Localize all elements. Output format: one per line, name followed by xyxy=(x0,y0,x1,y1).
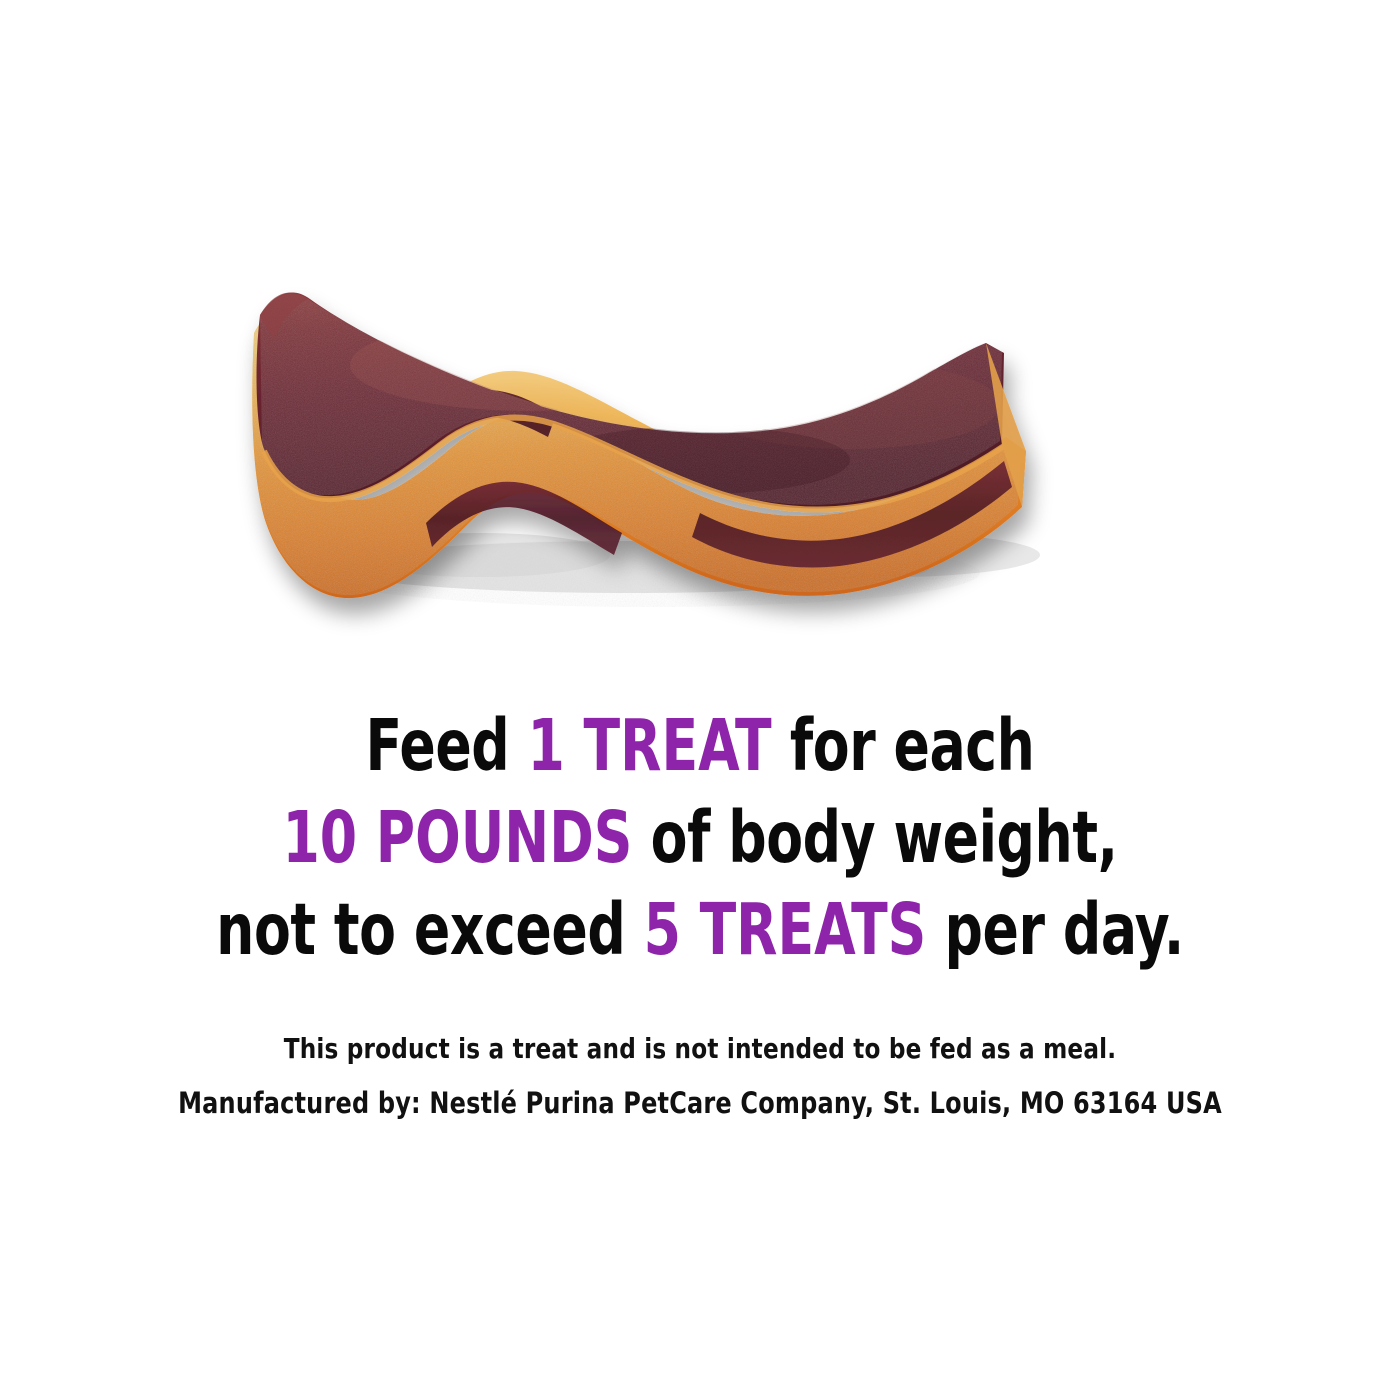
product-image-container xyxy=(0,255,1400,645)
headline-line-3: not to exceed 5 TREATS per day. xyxy=(112,884,1288,976)
headline-line-2-accent: 10 POUNDS xyxy=(282,796,632,879)
headline-line-3-accent: 5 TREATS xyxy=(644,888,927,971)
headline-line-2-post: of body weight, xyxy=(632,796,1117,879)
headline-line-2: 10 POUNDS of body weight, xyxy=(112,792,1288,884)
product-label-panel: Feed 1 TREAT for each 10 POUNDS of body … xyxy=(0,0,1400,1400)
headline-line-3-pre: not to exceed xyxy=(216,888,643,971)
headline-line-1: Feed 1 TREAT for each xyxy=(112,700,1288,792)
treat-disclaimer-text: This product is a treat and is not inten… xyxy=(56,1022,1344,1076)
headline-line-1-post: for each xyxy=(772,704,1035,787)
feeding-instructions-headline: Feed 1 TREAT for each 10 POUNDS of body … xyxy=(0,700,1400,976)
headline-line-1-pre: Feed xyxy=(366,704,528,787)
headline-line-3-post: per day. xyxy=(926,888,1183,971)
fine-print-block: This product is a treat and is not inten… xyxy=(0,1022,1400,1130)
headline-line-1-accent: 1 TREAT xyxy=(528,704,772,787)
manufacturer-text: Manufactured by: Nestlé Purina PetCare C… xyxy=(56,1076,1344,1130)
bacon-strip-treat-illustration xyxy=(230,255,1130,645)
